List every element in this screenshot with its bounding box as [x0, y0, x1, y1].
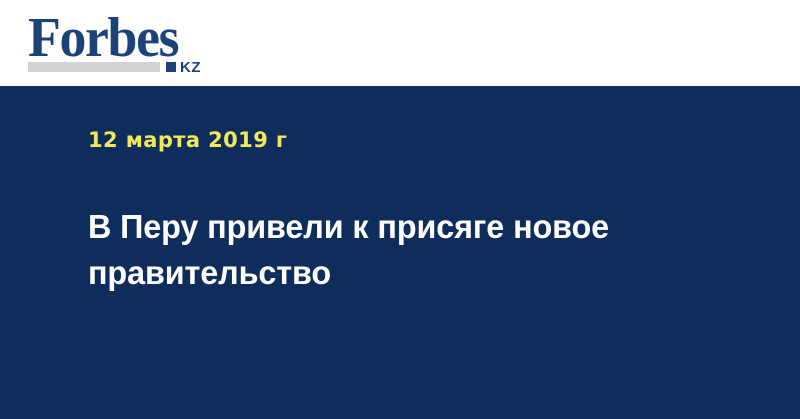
logo-wordmark: Forbes [28, 10, 178, 66]
article-title: В Перу привели к присяге новое правитель… [88, 204, 701, 296]
square-icon [166, 62, 176, 72]
logo-kz-group: KZ [166, 61, 201, 73]
forbes-kz-logo[interactable]: Forbes KZ [28, 10, 238, 78]
logo-region-code: KZ [180, 60, 201, 75]
site-header: Forbes KZ [0, 0, 800, 86]
article-card: Forbes KZ 12 марта 2019 г В Перу привели… [0, 0, 800, 419]
article-body: 12 марта 2019 г В Перу привели к присяге… [0, 86, 800, 419]
article-date: 12 марта 2019 г [88, 128, 287, 152]
logo-rule [28, 62, 160, 72]
